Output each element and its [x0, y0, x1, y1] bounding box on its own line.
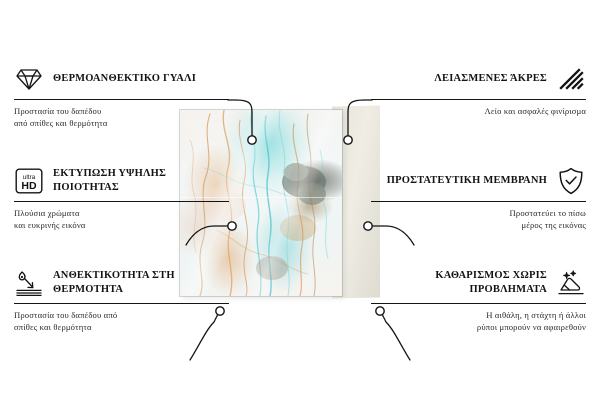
feature-divider: [14, 201, 229, 202]
feature-description-line1: Πλούσια χρώματα: [14, 207, 229, 219]
feature-protective-membrane: ΠΡΟΣΤΑΤΕΥΤΙΚΗ ΜΕΜΒΡΑΝΗ Προστατεύει το πί…: [371, 166, 586, 231]
feature-title: ΠΡΟΣΤΑΤΕΥΤΙΚΗ ΜΕΜΒΡΑΝΗ: [387, 174, 547, 188]
feature-description: Προστασία του δαπέδου από σπίθες και θερ…: [14, 309, 229, 333]
feature-description: Λείο και ασφαλές φινίρισμα: [371, 105, 586, 117]
feature-description-line2: και ευκρινής εικόνα: [14, 219, 229, 231]
polished-edges-icon: [556, 64, 586, 94]
feature-description-line2: ρύποι μπορούν να αφαιρεθούν: [371, 321, 586, 333]
feature-header: ΘΕΡΜΟΑΝΘΕΚΤΙΚΟ ΓΥΑΛΙ: [14, 64, 229, 94]
feature-title: ΘΕΡΜΟΑΝΘΕΚΤΙΚΟ ΓΥΑΛΙ: [53, 72, 196, 86]
feature-description-line2: από σπίθες και θερμότητα: [14, 117, 229, 129]
ultra-hd-icon: ultra HD: [14, 166, 44, 196]
feature-heat-resistance: ΑΝΘΕΚΤΙΚΟΤΗΤΑ ΣΤΗ ΘΕΡΜΟΤΗΤΑ Προστασία το…: [14, 268, 229, 333]
feature-divider: [371, 303, 586, 304]
feature-description: Προστατεύει το πίσω μέρος της εικόνας: [371, 207, 586, 231]
feature-divider: [371, 99, 586, 100]
feature-header: ΛΕΙΑΣΜΕΝΕΣ ΆΚΡΕΣ: [371, 64, 586, 94]
feature-description: Προστασία του δαπέδου από σπίθες και θερ…: [14, 105, 229, 129]
infographic-stage: ΘΕΡΜΟΑΝΘΕΚΤΙΚΟ ΓΥΑΛΙ Προστασία του δαπέδ…: [0, 0, 600, 400]
feature-header: ΠΡΟΣΤΑΤΕΥΤΙΚΗ ΜΕΜΒΡΑΝΗ: [371, 166, 586, 196]
easy-cleaning-icon: [556, 268, 586, 298]
feature-description-line1: Προστατεύει το πίσω: [371, 207, 586, 219]
feature-header: ΚΑΘΑΡΙΣΜΟΣ ΧΩΡΙΣ ΠΡΟΒΛΗΜΑΤΑ: [371, 268, 586, 298]
feature-description-line1: Προστασία του δαπέδου από: [14, 309, 229, 321]
feature-description-line1: Η αιθάλη, η στάχτη ή άλλοι: [371, 309, 586, 321]
feature-divider: [14, 99, 229, 100]
feature-title: ΕΚΤΥΠΩΣΗ ΥΨΗΛΗΣ ΠΟΙΟΤΗΤΑΣ: [53, 167, 229, 195]
shield-check-icon: [556, 166, 586, 196]
feature-easy-cleaning: ΚΑΘΑΡΙΣΜΟΣ ΧΩΡΙΣ ΠΡΟΒΛΗΜΑΤΑ Η αιθάλη, η …: [371, 268, 586, 333]
feature-title: ΚΑΘΑΡΙΣΜΟΣ ΧΩΡΙΣ ΠΡΟΒΛΗΜΑΤΑ: [371, 269, 547, 297]
feature-heat-resistant-glass: ΘΕΡΜΟΑΝΘΕΚΤΙΚΟ ΓΥΑΛΙ Προστασία του δαπέδ…: [14, 64, 229, 129]
svg-text:HD: HD: [21, 180, 37, 192]
feature-high-quality-print: ultra HD ΕΚΤΥΠΩΣΗ ΥΨΗΛΗΣ ΠΟΙΟΤΗΤΑΣ Πλούσ…: [14, 166, 229, 231]
diamond-icon: [14, 64, 44, 94]
feature-header: ΑΝΘΕΚΤΙΚΟΤΗΤΑ ΣΤΗ ΘΕΡΜΟΤΗΤΑ: [14, 268, 229, 298]
feature-description-line1: Προστασία του δαπέδου: [14, 105, 229, 117]
feature-description: Πλούσια χρώματα και ευκρινής εικόνα: [14, 207, 229, 231]
feature-header: ultra HD ΕΚΤΥΠΩΣΗ ΥΨΗΛΗΣ ΠΟΙΟΤΗΤΑΣ: [14, 166, 229, 196]
feature-description-line1: Λείο και ασφαλές φινίρισμα: [371, 105, 586, 117]
feature-divider: [371, 201, 586, 202]
feature-description-line2: μέρος της εικόνας: [371, 219, 586, 231]
feature-polished-edges: ΛΕΙΑΣΜΕΝΕΣ ΆΚΡΕΣ Λείο και ασφαλές φινίρι…: [371, 64, 586, 117]
feature-description-line2: σπίθες και θερμότητα: [14, 321, 229, 333]
feature-divider: [14, 303, 229, 304]
feature-title: ΑΝΘΕΚΤΙΚΟΤΗΤΑ ΣΤΗ ΘΕΡΜΟΤΗΤΑ: [53, 269, 229, 297]
heat-resistance-icon: [14, 268, 44, 298]
feature-description: Η αιθάλη, η στάχτη ή άλλοι ρύποι μπορούν…: [371, 309, 586, 333]
feature-title: ΛΕΙΑΣΜΕΝΕΣ ΆΚΡΕΣ: [434, 72, 547, 86]
